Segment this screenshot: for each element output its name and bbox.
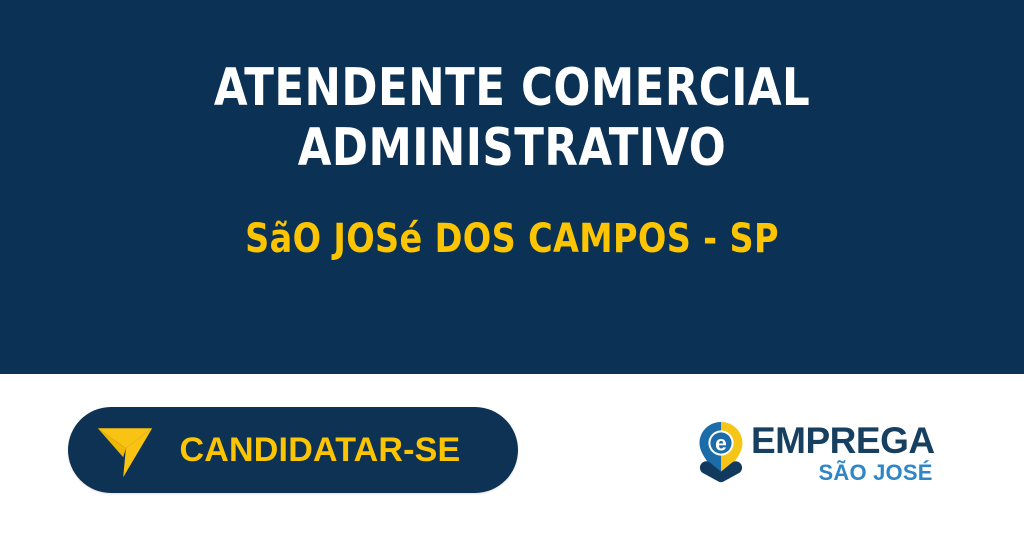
brand-name: EMPREGA — [751, 423, 935, 459]
job-location-text: SãO JOSé DOS CAMPOS - SP — [73, 216, 951, 262]
paper-plane-send-icon — [96, 421, 154, 479]
hero-content: ATENDENTE COMERCIAL ADMINISTRATIVO SãO J… — [0, 58, 1024, 262]
hero-banner: ATENDENTE COMERCIAL ADMINISTRATIVO SãO J… — [0, 0, 1024, 374]
svg-text:e: e — [715, 433, 727, 456]
apply-button-label: CANDIDATAR-SE — [154, 433, 492, 467]
brand-logo: e EMPREGA SÃO JOSÉ — [698, 420, 928, 488]
brand-tagline: SÃO JOSÉ — [751, 461, 935, 484]
page-title: ATENDENTE COMERCIAL ADMINISTRATIVO — [73, 58, 951, 178]
apply-button[interactable]: CANDIDATAR-SE — [68, 407, 518, 493]
footer-bar: CANDIDATAR-SE e EMPREGA — [0, 374, 1024, 538]
brand-wordmark: EMPREGA SÃO JOSÉ — [751, 423, 935, 484]
map-pin-e-icon: e — [698, 420, 744, 483]
job-posting-card: ATENDENTE COMERCIAL ADMINISTRATIVO SãO J… — [0, 0, 1024, 538]
